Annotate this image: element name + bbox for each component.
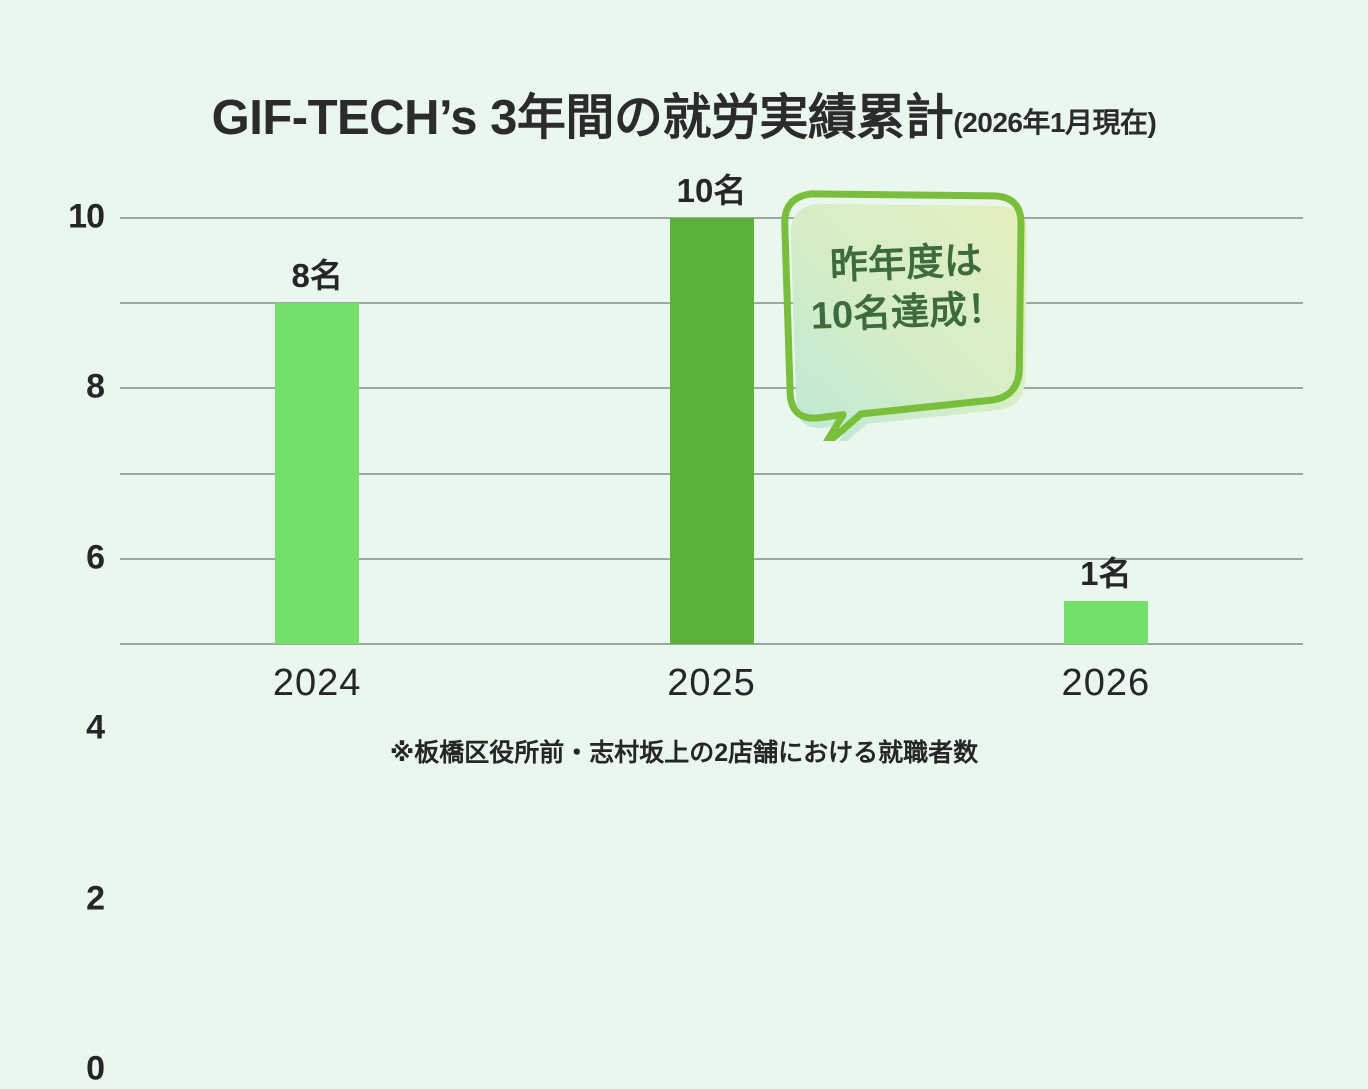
x-axis-label-2025: 2025	[667, 662, 756, 705]
y-axis-tick-label: 0	[86, 1050, 104, 1089]
callout-text: 昨年度は 10名達成！	[750, 234, 1064, 343]
page-title: GIF-TECH’s 3年間の就労実績累計(2026年1月現在)	[0, 78, 1368, 149]
callout-bubble[interactable]: 昨年度は 10名達成！	[752, 176, 1062, 441]
y-axis-tick-label: 2	[86, 879, 104, 918]
title-main-text: GIF-TECH’s 3年間の就労実績累計	[212, 91, 954, 145]
chart-canvas: GIF-TECH’s 3年間の就労実績累計(2026年1月現在) 0246810…	[0, 0, 1368, 825]
plot-area: 02468108名202410名20251名2026	[120, 218, 1303, 644]
x-axis-label-2024: 2024	[273, 662, 362, 705]
bar-value-label: 10名	[677, 164, 747, 212]
y-axis-tick-label: 6	[86, 538, 104, 577]
bar-2026[interactable]: 1名2026	[1064, 601, 1148, 644]
bar-2024[interactable]: 8名2024	[275, 303, 359, 644]
title-sub-text: (2026年1月現在)	[953, 107, 1156, 138]
bar-2025[interactable]: 10名2025	[670, 218, 754, 644]
y-axis-tick-label: 8	[86, 368, 104, 407]
footnote: ※板橋区役所前・志村坂上の2店舗における就職者数	[0, 733, 1368, 769]
x-axis-label-2026: 2026	[1062, 662, 1151, 705]
y-axis-tick-label: 10	[68, 198, 104, 237]
bar-value-label: 1名	[1080, 547, 1131, 595]
bar-value-label: 8名	[291, 249, 342, 297]
